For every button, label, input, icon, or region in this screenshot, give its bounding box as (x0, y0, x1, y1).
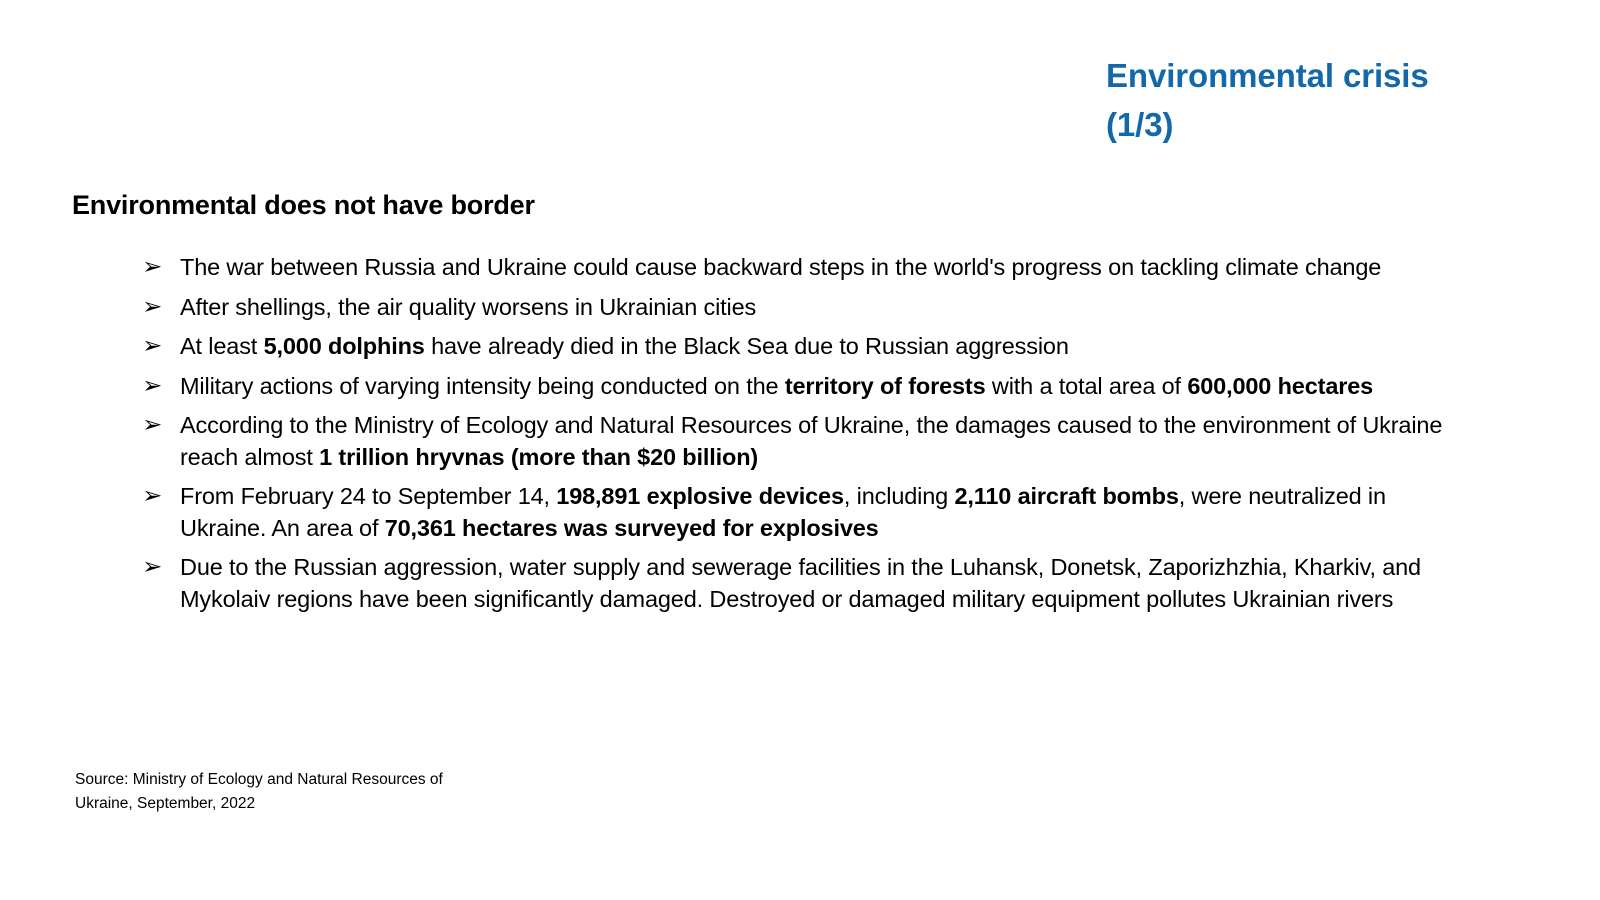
arrow-bullet-icon: ➢ (142, 410, 181, 442)
bullet-run: The war between Russia and Ukraine could… (180, 254, 1381, 280)
arrow-bullet-icon: ➢ (142, 552, 181, 584)
source-note: Source: Ministry of Ecology and Natural … (75, 768, 545, 816)
bullet-run: have already died in the Black Sea due t… (425, 333, 1069, 359)
bullet-emphasis: 1 trillion hryvnas (more than $20 billio… (319, 444, 758, 470)
bullet-list: ➢The war between Russia and Ukraine coul… (143, 252, 1465, 623)
arrow-bullet-icon: ➢ (142, 371, 181, 403)
arrow-bullet-icon: ➢ (142, 481, 181, 513)
bullet-text: At least 5,000 dolphins have already die… (180, 331, 1465, 363)
arrow-bullet-icon: ➢ (142, 331, 181, 363)
bullet-emphasis: 198,891 explosive devices (556, 483, 844, 509)
bullet-text: According to the Ministry of Ecology and… (180, 410, 1465, 473)
bullet-emphasis: 5,000 dolphins (264, 333, 425, 359)
slide-canvas: Environmental crisis (1/3) Environmental… (0, 0, 1600, 900)
bullet-run: From February 24 to September 14, (180, 483, 556, 509)
bullet-forests: ➢Military actions of varying intensity b… (143, 371, 1465, 403)
bullet-air-quality: ➢After shellings, the air quality worsen… (143, 292, 1465, 324)
section-subheading: Environmental does not have border (72, 190, 535, 221)
bullet-run: , including (844, 483, 955, 509)
bullet-text: Military actions of varying intensity be… (180, 371, 1465, 403)
bullet-run: with a total area of (986, 373, 1188, 399)
bullet-run: Military actions of varying intensity be… (180, 373, 785, 399)
source-note-line-1: Source: Ministry of Ecology and Natural … (75, 768, 545, 792)
bullet-emphasis: 2,110 aircraft bombs (954, 483, 1178, 509)
bullet-run: Due to the Russian aggression, water sup… (180, 554, 1421, 612)
bullet-damages: ➢According to the Ministry of Ecology an… (143, 410, 1465, 473)
arrow-bullet-icon: ➢ (142, 292, 181, 324)
bullet-text: The war between Russia and Ukraine could… (180, 252, 1465, 284)
bullet-dolphins: ➢At least 5,000 dolphins have already di… (143, 331, 1465, 363)
bullet-explosives: ➢From February 24 to September 14, 198,8… (143, 481, 1465, 544)
bullet-climate-change: ➢The war between Russia and Ukraine coul… (143, 252, 1465, 284)
bullet-emphasis: 600,000 hectares (1187, 373, 1373, 399)
slide-title-line-2: (1/3) (1106, 101, 1526, 150)
arrow-bullet-icon: ➢ (142, 252, 181, 284)
bullet-emphasis: territory of forests (785, 373, 986, 399)
source-note-line-2: Ukraine, September, 2022 (75, 792, 545, 816)
bullet-text: From February 24 to September 14, 198,89… (180, 481, 1465, 544)
bullet-water-supply: ➢Due to the Russian aggression, water su… (143, 552, 1465, 615)
bullet-run: At least (180, 333, 264, 359)
bullet-run: After shellings, the air quality worsens… (180, 294, 756, 320)
slide-title: Environmental crisis (1/3) (1106, 52, 1526, 150)
slide-title-line-1: Environmental crisis (1106, 52, 1526, 101)
bullet-text: After shellings, the air quality worsens… (180, 292, 1465, 324)
bullet-text: Due to the Russian aggression, water sup… (180, 552, 1465, 615)
bullet-emphasis: 70,361 hectares was surveyed for explosi… (385, 515, 879, 541)
